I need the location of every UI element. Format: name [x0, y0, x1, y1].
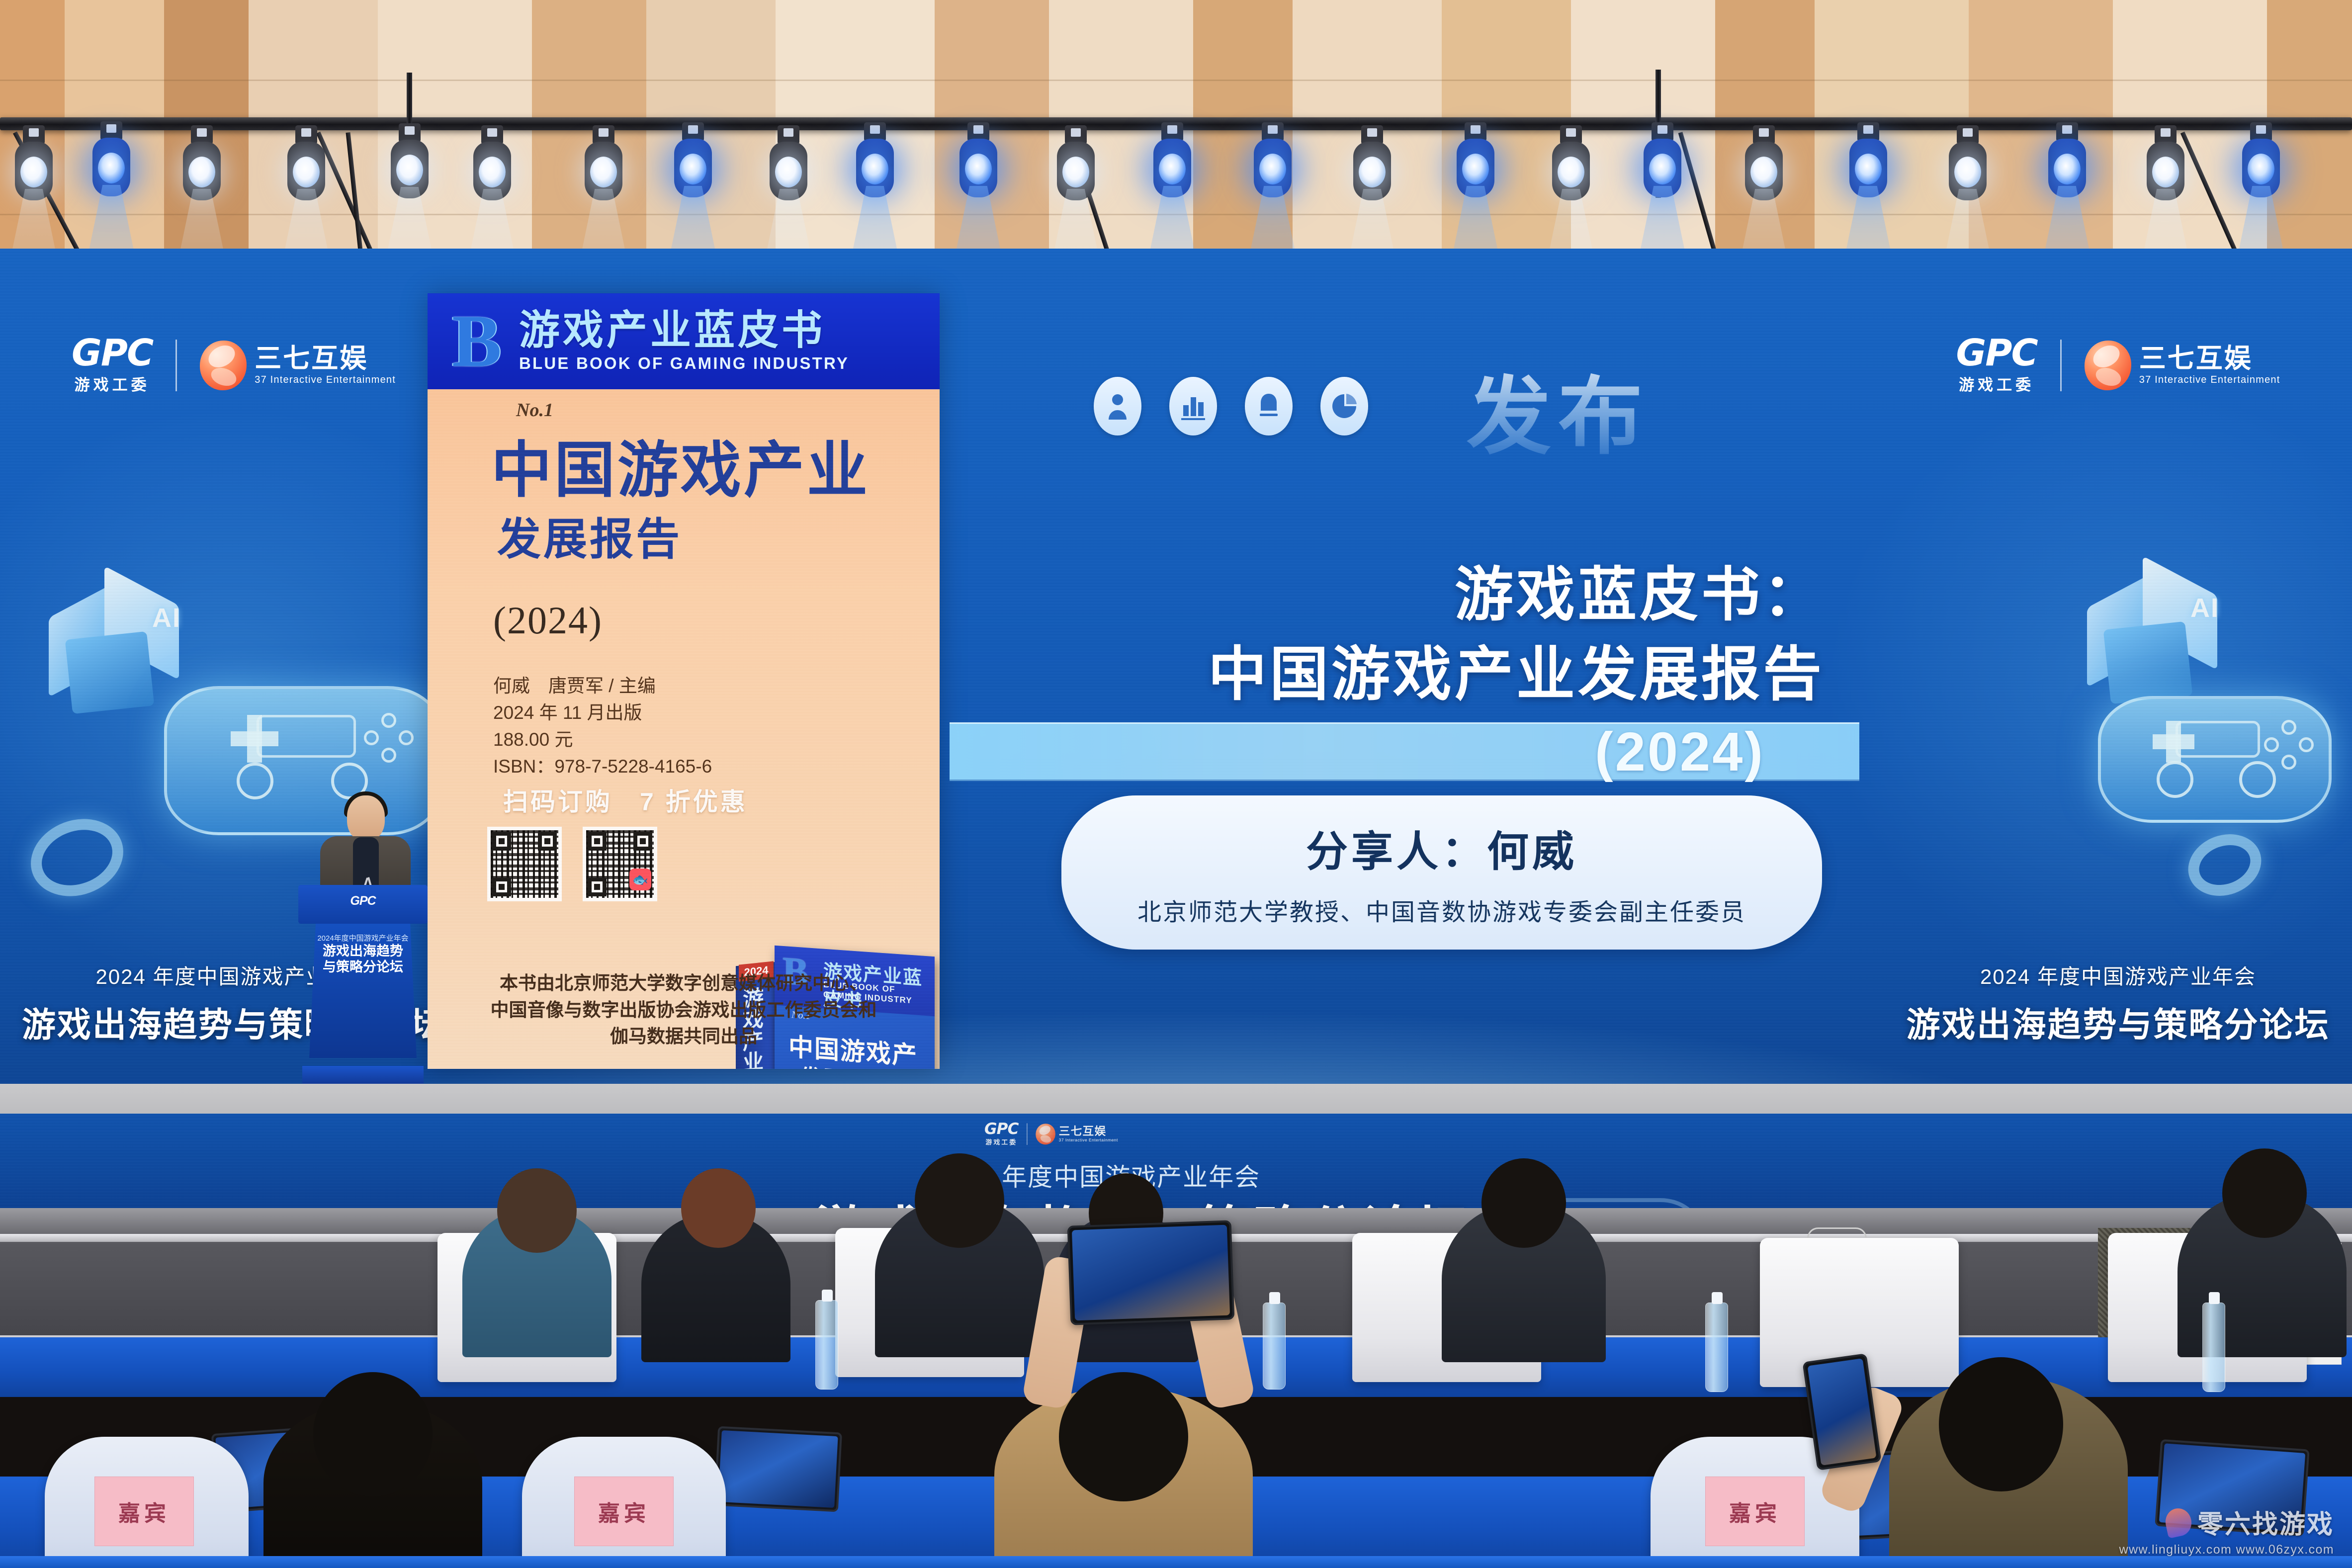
book-editors: 何威 唐贾军 / 主编	[493, 673, 712, 699]
water-bottle	[1705, 1303, 1728, 1392]
watermark-urls: www.lingliuyx.com www.06zyx.com	[2119, 1543, 2334, 1557]
watermark-brand: 零六找游戏	[2197, 1503, 2334, 1541]
gpc-logo: GPC 游戏工委	[72, 336, 153, 395]
book-cover-panel: B 游戏产业蓝皮书 BLUE BOOK OF GAMING INDUSTRY N…	[428, 293, 940, 1069]
gpc-logo: GPC 游戏工委	[1956, 336, 2037, 395]
speaking-podium: GPC 2024年度中国游戏产业年会 游戏出海趋势与策略分论坛	[298, 885, 428, 1084]
audience-head	[681, 1168, 756, 1248]
book-footer-line1: 本书由北京师范大学数字创意媒体研究中心、	[428, 970, 940, 997]
ghost-release-text: 发布	[1467, 348, 1650, 470]
book-edition: (2024)	[493, 598, 603, 643]
order-qr-1[interactable]	[487, 827, 562, 901]
blue-book-mark: B	[435, 307, 519, 376]
audience-head	[1481, 1158, 1566, 1248]
sponsor-logo: 三七互娱 37 Interactive Entertainment	[2085, 341, 2280, 390]
forum-title-block-right: 2024 年度中国游戏产业年会 游戏出海趋势与策略分论坛	[1884, 960, 2352, 1046]
front-person-head	[313, 1372, 433, 1496]
book-cover-number: No.1	[791, 1009, 810, 1022]
book-3d-mockup: 2024 游戏产业蓝皮书 B 游戏产业蓝皮书 BLUE BOOK OF GAMI…	[736, 951, 935, 1069]
smartphone-recording[interactable]	[1067, 1220, 1235, 1325]
book-footer-line3: 伽马数据共同出品	[428, 1023, 940, 1050]
sponsor-chinese-name: 三七互娱	[255, 345, 396, 373]
front-led-logos: GPC游戏工委 三七互娱37 Interactive Entertainment	[984, 1122, 1118, 1146]
logo-divider	[175, 340, 177, 391]
book-cover-title1: 中国游戏产业	[788, 1027, 935, 1069]
book-promo-text: 扫码订购 7 折优惠	[503, 782, 748, 818]
feature-icon-row	[1094, 377, 1368, 436]
sponsor-logo-lockup: GPC 游戏工委 三七互娱 37 Interactive Entertainme…	[1884, 336, 2352, 395]
gpc-wordmark: GPC	[1956, 336, 2037, 370]
book-cover-mark: B	[783, 948, 808, 995]
podium-subtitle: 2024年度中国游戏产业年会	[298, 933, 428, 943]
order-qr-2[interactable]	[583, 827, 657, 901]
guest-name-card: 嘉宾	[1705, 1477, 1805, 1546]
audience-head	[2222, 1148, 2307, 1238]
audience-head	[497, 1168, 577, 1253]
gpc-chinese-name: 游戏工委	[75, 372, 150, 395]
water-bottle	[815, 1300, 838, 1390]
book-front-cover: B 游戏产业蓝皮书 BLUE BOOK OF GAMING INDUSTRY N…	[775, 946, 935, 1069]
watermark-flame-icon	[2163, 1506, 2194, 1539]
qr-code-row	[487, 827, 657, 901]
pie-chart-icon	[1320, 377, 1368, 436]
sponsor-chinese-name: 三七互娱	[2139, 345, 2280, 373]
sponsor-english-name: 37 Interactive Entertainment	[255, 374, 396, 386]
conference-stage-photo: AI AI	[0, 0, 2352, 1568]
guest-name-card: 嘉宾	[94, 1477, 194, 1546]
speaker-card: 分享人：何威 北京师范大学教授、中国音数协游戏专委会副主任委员	[1061, 795, 1822, 950]
sponsor-mark-icon	[200, 341, 247, 390]
banquet-table-edge	[0, 1556, 2352, 1568]
backdrop-wing-right: GPC 游戏工委 三七互娱 37 Interactive Entertainme…	[1884, 249, 2352, 1114]
forum-title: 游戏出海趋势与策略分论坛	[1884, 997, 2352, 1046]
logo-divider	[2060, 340, 2062, 391]
xiaohongshu-badge-icon	[629, 869, 651, 890]
bar-chart-icon	[1169, 377, 1217, 436]
front-person-head	[1939, 1357, 2063, 1491]
gpc-chinese-name: 游戏工委	[1959, 372, 2034, 395]
user-icon	[1094, 377, 1141, 436]
book-cover-series-en: BLUE BOOK OF GAMING INDUSTRY	[823, 980, 935, 1008]
front-person-head	[1059, 1372, 1188, 1501]
book-spine: 2024 游戏产业蓝皮书	[736, 962, 777, 1069]
sponsor-logo-lockup: GPC 游戏工委 三七互娱 37 Interactive Entertainme…	[0, 336, 467, 395]
speaker-name: 分享人：何威	[1306, 818, 1577, 878]
book-metadata: 何威 唐贾军 / 主编 2024 年 11 月出版 188.00 元 ISBN：…	[493, 673, 712, 780]
audience-head	[915, 1153, 1004, 1248]
release-title-line2: 中国游戏产业发展报告	[1208, 626, 1825, 711]
book-series-number: No.1	[516, 399, 553, 421]
watermark: 零六找游戏 www.lingliuyx.com www.06zyx.com	[2119, 1503, 2334, 1557]
podium-logo: GPC	[298, 894, 428, 908]
book-spine-year: 2024	[739, 961, 774, 981]
book-panel-body: No.1 中国游戏产业 发展报告 (2024) 何威 唐贾军 / 主编 2024…	[428, 389, 940, 1069]
book-panel-header: B 游戏产业蓝皮书 BLUE BOOK OF GAMING INDUSTRY	[428, 293, 940, 389]
book-footer-line2: 中国音像与数字出版协会游戏出版工作委员会和	[428, 997, 940, 1024]
release-year: (2024)	[1595, 723, 1765, 782]
gpc-wordmark: GPC	[72, 336, 153, 370]
guest-name-card: 嘉宾	[574, 1477, 674, 1546]
audience-area: 嘉宾 嘉宾 嘉宾	[0, 1158, 2352, 1568]
main-title-panel: 发布 游戏蓝皮书： 中国游戏产业发展报告 (2024) 分享人：何威 北京师范大…	[945, 249, 1884, 1114]
book-pubdate: 2024 年 11 月出版	[493, 699, 712, 726]
book-series-en-title: BLUE BOOK OF GAMING INDUSTRY	[519, 354, 928, 373]
podium-title: 游戏出海趋势与策略分论坛	[298, 944, 428, 975]
speaker-role: 北京师范大学教授、中国音数协游戏专委会副主任委员	[1137, 892, 1746, 927]
book-title-line1: 中国游戏产业	[491, 440, 870, 501]
book-cover-title2: 发展报告	[800, 1059, 888, 1069]
forum-subtitle: 2024 年度中国游戏产业年会	[1884, 960, 2352, 990]
book-panel-footer: 本书由北京师范大学数字创意媒体研究中心、 中国音像与数字出版协会游戏出版工作委员…	[428, 970, 940, 1050]
sponsor-logo: 三七互娱 37 Interactive Entertainment	[200, 341, 396, 390]
water-bottle	[1263, 1303, 1286, 1390]
release-title-line1: 游戏蓝皮书：	[1455, 547, 1825, 632]
bell-icon	[1245, 377, 1293, 436]
book-price: 188.00 元	[493, 726, 712, 753]
sponsor-english-name: 37 Interactive Entertainment	[2139, 374, 2280, 386]
book-spine-title: 游戏产业蓝皮书	[743, 986, 769, 1069]
sponsor-mark-icon	[2085, 341, 2131, 390]
book-title-line2: 发展报告	[497, 518, 682, 561]
book-series-cn-title: 游戏产业蓝皮书	[519, 310, 928, 351]
book-isbn: ISBN：978-7-5228-4165-6	[493, 753, 712, 780]
year-band: (2024)	[950, 722, 1859, 781]
water-bottle	[2202, 1303, 2225, 1392]
book-cover-series-cn: 游戏产业蓝皮书	[823, 956, 935, 1019]
tablet-device[interactable]	[714, 1426, 842, 1512]
